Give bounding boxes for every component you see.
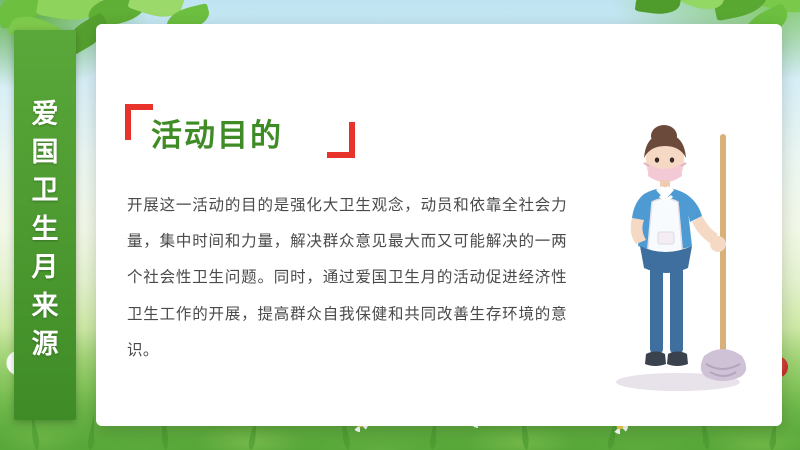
vertical-title-band: 爱 国 卫 生 月 来 源 <box>14 30 76 420</box>
vertical-title-char: 生 <box>32 215 59 243</box>
vertical-title-char: 卫 <box>32 176 59 204</box>
vertical-title-char: 国 <box>32 138 59 166</box>
section-heading-text: 活动目的 <box>151 110 283 155</box>
bracket-left-icon <box>125 104 153 140</box>
vertical-title-char: 爱 <box>32 100 59 128</box>
vertical-title-char: 源 <box>32 330 59 358</box>
cleaning-woman-illustration <box>600 120 780 400</box>
body-paragraph: 开展这一活动的目的是强化大卫生观念，动员和依靠全社会力量，集中时间和力量，解决群… <box>127 188 567 370</box>
vertical-title-char: 月 <box>32 253 59 281</box>
slide-root: 爱 国 卫 生 月 来 源 活动目的 开展这一活动的目的是强化大卫生观念，动员和… <box>0 0 800 450</box>
bracket-right-icon <box>327 122 355 158</box>
vertical-title-char: 来 <box>32 292 59 320</box>
section-heading: 活动目的 <box>125 104 355 158</box>
